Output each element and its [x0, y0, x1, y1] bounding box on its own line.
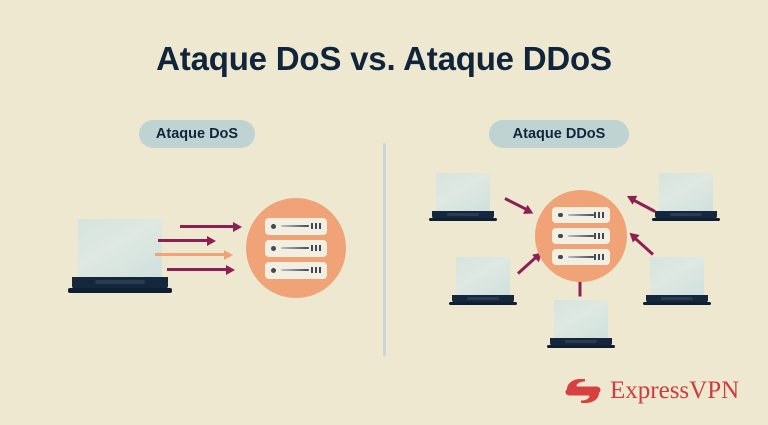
attack-arrow-ddos-1 — [504, 197, 534, 214]
arrow-shaft — [155, 253, 226, 256]
expressvpn-wordmark: ExpressVPN — [610, 377, 739, 405]
laptop-screen — [78, 219, 162, 277]
laptop-foot — [652, 218, 720, 222]
server-led-icon — [558, 234, 563, 239]
arrow-head — [224, 250, 233, 260]
server-line-icon — [568, 235, 594, 237]
attack-arrow-dos-2 — [158, 239, 216, 242]
attack-arrow-dos-3 — [155, 253, 233, 256]
infographic-canvas: Ataque DoS vs. Ataque DDoS Ataque DoS — [0, 0, 768, 425]
laptop-screen — [650, 257, 704, 295]
laptop-screen — [554, 300, 608, 338]
laptop-foot — [547, 345, 615, 349]
server-ticks-icon — [311, 267, 321, 273]
attacker-laptop-ddos-2 — [655, 173, 717, 221]
laptop-lid — [659, 173, 713, 211]
server-line-icon — [281, 247, 309, 249]
arrow-shaft — [180, 225, 235, 228]
server-line-icon — [568, 256, 594, 258]
attacker-laptop-ddos-4 — [646, 257, 708, 305]
attacker-laptop-ddos-5 — [550, 300, 612, 348]
arrow-head — [233, 222, 242, 232]
attacker-laptop-ddos-3 — [452, 257, 514, 305]
server-bar — [265, 262, 327, 279]
attack-arrow-dos-1 — [180, 225, 242, 228]
badge-ataque-ddos: Ataque DDoS — [489, 120, 629, 148]
laptop-screen — [436, 173, 490, 211]
server-line-icon — [281, 269, 309, 271]
laptop-foot — [68, 288, 172, 293]
attack-arrow-ddos-2 — [626, 195, 656, 213]
server-ticks-icon — [311, 223, 321, 229]
attacker-laptop-dos — [72, 219, 168, 293]
server-led-icon — [271, 268, 276, 273]
laptop-foot — [429, 218, 497, 222]
laptop-screen — [659, 173, 713, 211]
attack-arrow-dos-4 — [167, 268, 235, 271]
server-bar — [552, 228, 610, 244]
server-bar — [552, 249, 610, 265]
server-bar — [265, 240, 327, 257]
server-led-icon — [271, 224, 276, 229]
laptop-foot — [449, 302, 517, 306]
laptop-lid — [436, 173, 490, 211]
server-ticks-icon — [311, 245, 321, 251]
server-line-icon — [281, 225, 309, 227]
server-led-icon — [271, 246, 276, 251]
arrow-head — [226, 265, 235, 275]
server-line-icon — [568, 214, 594, 216]
arrow-shaft — [167, 268, 228, 271]
laptop-lid — [78, 219, 162, 277]
server-ticks-icon — [594, 212, 604, 218]
expressvpn-e-mark-icon — [565, 378, 601, 404]
laptop-screen — [456, 257, 510, 295]
server-icon — [246, 198, 346, 298]
server-led-icon — [558, 213, 563, 218]
server-icon — [535, 190, 627, 282]
laptop-lid — [456, 257, 510, 295]
server-bar — [265, 218, 327, 235]
target-server-dos — [246, 198, 346, 298]
laptop-foot — [643, 302, 711, 306]
arrow-shaft — [633, 237, 654, 256]
page-title: Ataque DoS vs. Ataque DDoS — [0, 40, 768, 78]
arrow-shaft — [632, 198, 655, 212]
expressvpn-logo: ExpressVPN — [565, 375, 739, 407]
target-server-ddos — [535, 190, 627, 282]
attacker-laptop-ddos-1 — [432, 173, 494, 221]
server-ticks-icon — [594, 233, 604, 239]
arrow-shaft — [158, 239, 209, 242]
badge-ataque-dos: Ataque DoS — [139, 120, 255, 148]
attack-arrow-ddos-4 — [628, 232, 654, 256]
laptop-lid — [650, 257, 704, 295]
server-ticks-icon — [594, 254, 604, 260]
section-divider — [383, 143, 386, 356]
laptop-lid — [554, 300, 608, 338]
server-bar — [552, 207, 610, 223]
arrow-head — [207, 236, 216, 246]
server-led-icon — [558, 255, 563, 260]
